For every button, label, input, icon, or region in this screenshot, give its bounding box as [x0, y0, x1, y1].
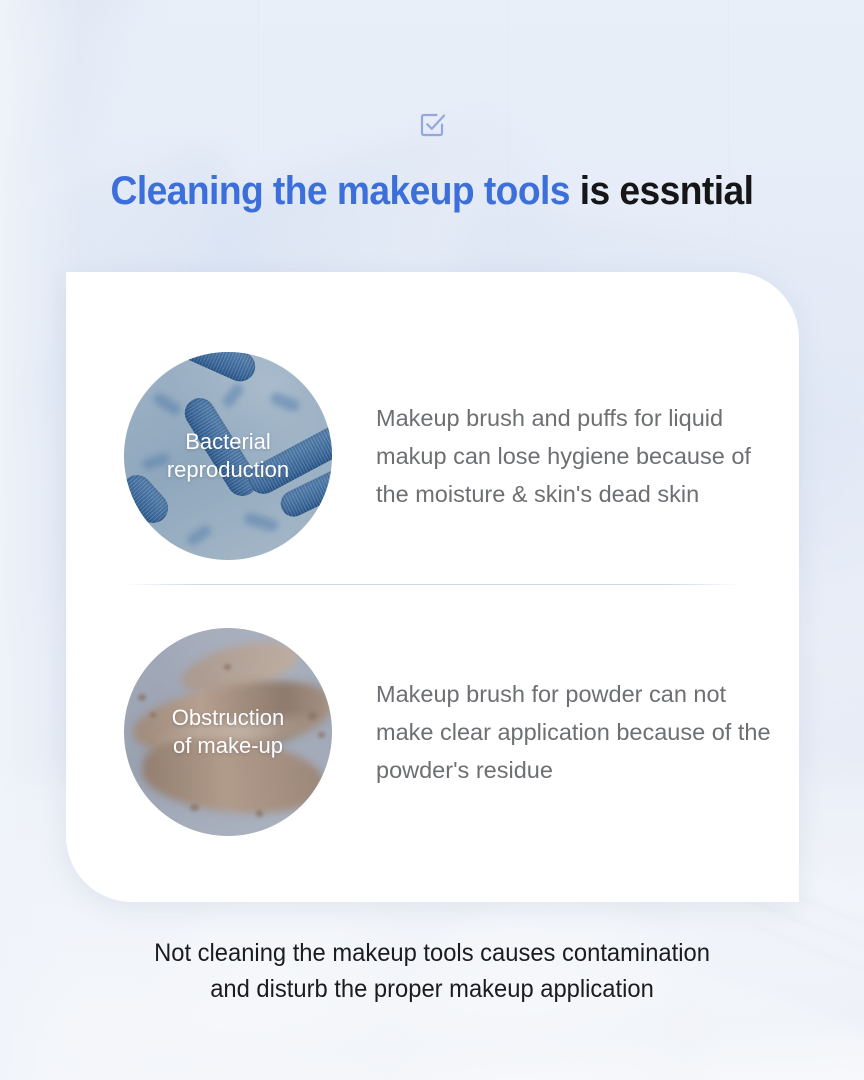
list-item: Bacterial reproduction Makeup brush and … [66, 272, 799, 582]
footer-caption: Not cleaning the makeup tools causes con… [22, 936, 843, 1007]
footer-line-1: Not cleaning the makeup tools causes con… [22, 936, 843, 972]
infographic-page: Cleaning the makeup tools is essntial [0, 0, 864, 1080]
circle-caption-line2: of make-up [173, 733, 283, 758]
circle-caption-line1: Obstruction [172, 705, 285, 730]
check-square-icon [415, 108, 449, 142]
circle-caption: Obstruction of make-up [166, 704, 291, 759]
circle-caption: Bacterial reproduction [161, 428, 295, 483]
list-item-description: Makeup brush for powder can not make cle… [376, 675, 776, 790]
page-title-highlight: Cleaning the makeup tools [111, 169, 570, 213]
powder-image-circle: Obstruction of make-up [124, 628, 332, 836]
page-title: Cleaning the makeup tools is essntial [30, 169, 834, 213]
circle-caption-line2: reproduction [167, 457, 289, 482]
content-card: Bacterial reproduction Makeup brush and … [66, 272, 799, 902]
header: Cleaning the makeup tools is essntial [0, 0, 864, 213]
circle-caption-line1: Bacterial [185, 429, 271, 454]
page-title-rest: is essntial [570, 169, 754, 213]
row-divider [124, 584, 741, 585]
list-item: Obstruction of make-up Makeup brush for … [66, 582, 799, 882]
footer-line-2: and disturb the proper makeup applicatio… [22, 972, 843, 1008]
bacteria-image-circle: Bacterial reproduction [124, 352, 332, 560]
card-rows: Bacterial reproduction Makeup brush and … [66, 272, 799, 882]
list-item-description: Makeup brush and puffs for liquid makup … [376, 399, 776, 514]
